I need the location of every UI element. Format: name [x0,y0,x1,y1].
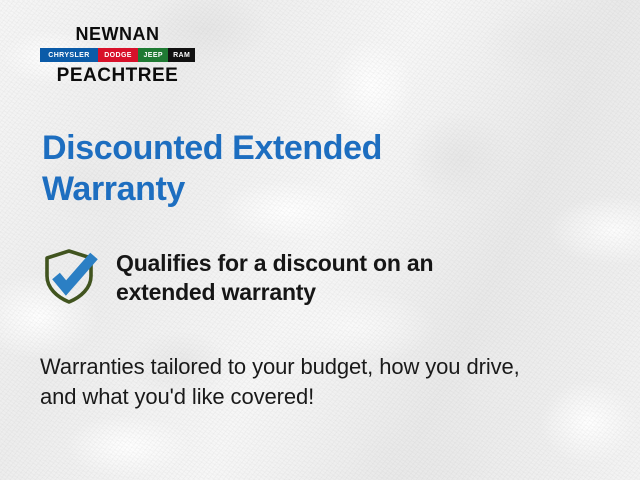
shield-check-icon [40,247,98,305]
headline-title: Discounted Extended Warranty [42,128,462,211]
logo-name-bottom: PEACHTREE [40,66,195,85]
promo-slide: Newnan CHRYSLER DODGE JEEP RAM PEACHTREE… [0,0,640,480]
brand-badge-ram: RAM [168,48,195,62]
brand-badge-jeep: JEEP [138,48,168,62]
feature-row: Qualifies for a discount on an extended … [40,245,510,308]
slide-content: Newnan CHRYSLER DODGE JEEP RAM PEACHTREE… [0,0,640,480]
feature-text: Qualifies for a discount on an extended … [116,245,510,308]
dealership-logo: Newnan CHRYSLER DODGE JEEP RAM PEACHTREE [40,20,195,85]
brand-badge-row: CHRYSLER DODGE JEEP RAM [40,48,195,62]
body-paragraph: Warranties tailored to your budget, how … [40,352,560,412]
brand-badge-chrysler: CHRYSLER [40,48,98,62]
logo-name-top: Newnan [40,20,195,45]
brand-badge-dodge: DODGE [98,48,138,62]
